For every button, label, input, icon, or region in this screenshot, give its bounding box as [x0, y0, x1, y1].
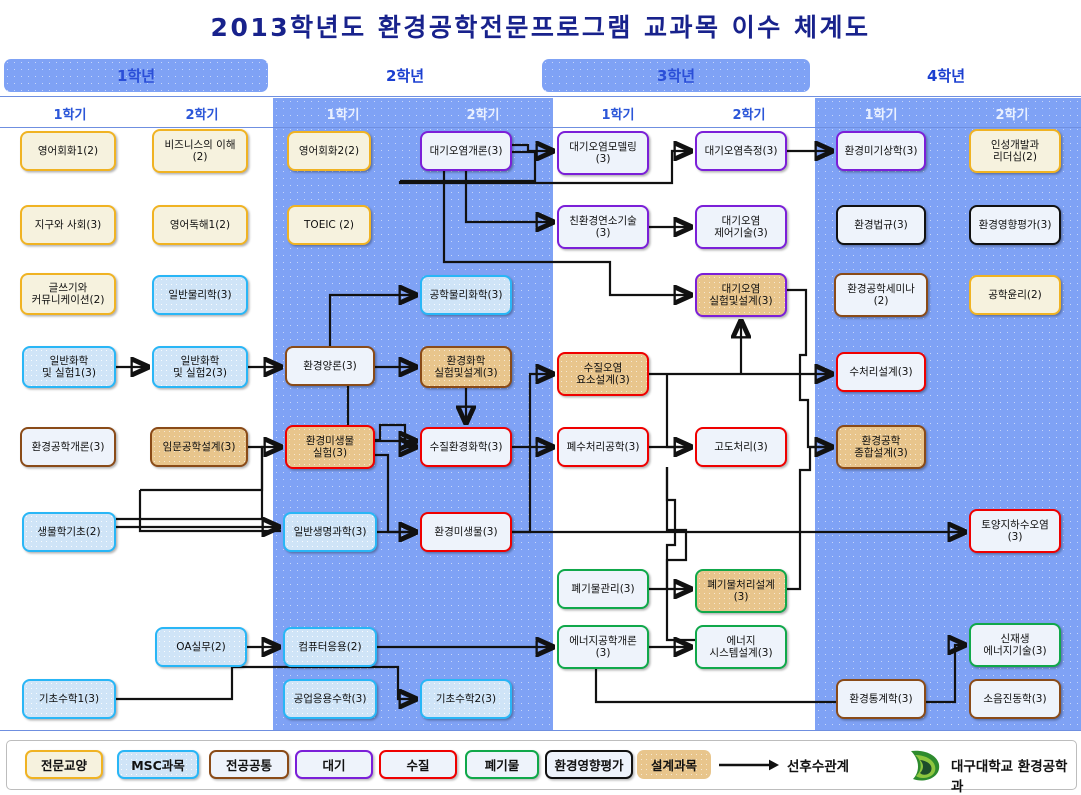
course-box[interactable]: 임문공학설계(3) — [150, 427, 248, 467]
course-box[interactable]: 비즈니스의 이해 (2) — [152, 129, 248, 173]
year-header-1-label: 1학년 — [117, 65, 155, 86]
course-box[interactable]: 기초수학1(3) — [22, 679, 116, 719]
year-header-1: 1학년 — [4, 59, 268, 92]
sem-header-y1s1: 1학기 — [4, 100, 136, 126]
course-box[interactable]: 환경공학세미나 (2) — [834, 273, 928, 317]
course-box[interactable]: 환경영향평가(3) — [969, 205, 1061, 245]
course-box[interactable]: 대기오염개론(3) — [420, 131, 512, 171]
course-box[interactable]: 토양지하수오염 (3) — [969, 509, 1061, 553]
course-box[interactable]: 폐수처리공학(3) — [557, 427, 649, 467]
legend-panel: 전문교양MSC과목전공공통대기수질폐기물환경영향평가설계과목 선후수관계 대구대… — [6, 740, 1077, 790]
year-header-4: 4학년 — [815, 59, 1077, 92]
course-box[interactable]: 환경통계학(3) — [836, 679, 926, 719]
course-box[interactable]: 공학물리화학(3) — [420, 275, 512, 315]
course-box[interactable]: 대기오염 제어기술(3) — [695, 205, 787, 249]
course-box[interactable]: 환경공학 종합설계(3) — [836, 425, 926, 469]
course-box[interactable]: 폐기물관리(3) — [557, 569, 649, 609]
course-box[interactable]: 고도처리(3) — [695, 427, 787, 467]
year-header-3: 3학년 — [542, 59, 810, 92]
legend-item: 환경영향평가 — [545, 750, 633, 779]
course-box[interactable]: 일반화학 및 실험1(3) — [22, 346, 116, 388]
university-logo-icon — [905, 747, 945, 783]
sem-header-y4s2-label: 2학기 — [996, 104, 1029, 123]
course-box[interactable]: 환경법규(3) — [836, 205, 926, 245]
year-header-2-label: 2학년 — [386, 65, 424, 86]
sem-header-y2s1: 1학기 — [273, 100, 413, 126]
header-divider-top — [0, 96, 1081, 97]
sem-header-y3s1-label: 1학기 — [602, 104, 635, 123]
course-box[interactable]: 에너지공학개론 (3) — [557, 625, 649, 669]
course-box[interactable]: 환경미생물 실험(3) — [285, 425, 375, 469]
legend-item: 대기 — [295, 750, 373, 779]
sem-header-y4s1-label: 1학기 — [865, 104, 898, 123]
course-box[interactable]: TOEIC (2) — [287, 205, 371, 245]
course-box[interactable]: 영어독해1(2) — [152, 205, 248, 245]
legend-relation-label: 선후수관계 — [787, 755, 849, 775]
sem-header-y2s2-label: 2학기 — [467, 104, 500, 123]
course-box[interactable]: 환경미생물(3) — [420, 512, 512, 552]
course-box[interactable]: 컴퓨터응용(2) — [283, 627, 377, 667]
course-box[interactable]: 공업응용수학(3) — [283, 679, 377, 719]
year-header-3-label: 3학년 — [657, 65, 695, 86]
sem-header-y4s2: 2학기 — [947, 100, 1077, 126]
course-box[interactable]: 환경미기상학(3) — [836, 131, 926, 171]
course-box[interactable]: 친환경연소기술 (3) — [557, 205, 649, 249]
course-box[interactable]: 일반화학 및 실험2(3) — [152, 346, 248, 388]
course-box[interactable]: 일반생명과학(3) — [283, 512, 377, 552]
legend-item: 폐기물 — [465, 750, 539, 779]
sem-header-y3s2: 2학기 — [683, 100, 815, 126]
course-box[interactable]: 환경공학개론(3) — [20, 427, 116, 467]
sem-header-y2s2: 2학기 — [413, 100, 553, 126]
sem-header-y3s2-label: 2학기 — [733, 104, 766, 123]
course-box[interactable]: 수처리설계(3) — [836, 352, 926, 392]
sem-header-y2s1-label: 1학기 — [327, 104, 360, 123]
course-box[interactable]: 폐기물처리설계 (3) — [695, 569, 787, 613]
course-box[interactable]: 대기오염 실험및설계(3) — [695, 273, 787, 317]
course-box[interactable]: 수질환경화학(3) — [420, 427, 512, 467]
sem-header-y1s1-label: 1학기 — [54, 104, 87, 123]
course-box[interactable]: 환경화학 실험및설계(3) — [420, 346, 512, 388]
course-box[interactable]: OA실무(2) — [155, 627, 247, 667]
department-name: 대구대학교 환경공학과 — [951, 755, 1076, 795]
sem-header-y4s1: 1학기 — [815, 100, 947, 126]
course-box[interactable]: 대기오염모델링 (3) — [557, 131, 649, 175]
course-box[interactable]: 영어회화2(2) — [287, 131, 371, 171]
legend-arrow-icon — [719, 757, 781, 773]
course-box[interactable]: 기초수학2(3) — [420, 679, 512, 719]
legend-item: 수질 — [379, 750, 457, 779]
course-box[interactable]: 소음진동학(3) — [969, 679, 1061, 719]
course-box[interactable]: 신재생 에너지기술(3) — [969, 623, 1061, 667]
sem-header-y3s1: 1학기 — [553, 100, 683, 126]
sem-header-y1s2-label: 2학기 — [186, 104, 219, 123]
year-header-2: 2학년 — [273, 59, 537, 92]
diagram-canvas: 2013학년도 환경공학전문프로그램 교과목 이수 체계도 1학년 2학년 3학… — [0, 0, 1081, 794]
page-title: 2013학년도 환경공학전문프로그램 교과목 이수 체계도 — [0, 8, 1081, 44]
course-box[interactable]: 영어회화1(2) — [20, 131, 116, 171]
header-divider-bottom — [0, 127, 1081, 128]
legend-item: MSC과목 — [117, 750, 199, 779]
course-box[interactable]: 공학윤리(2) — [969, 275, 1061, 315]
course-box[interactable]: 수질오염 요소설계(3) — [557, 352, 649, 396]
course-box[interactable]: 글쓰기와 커뮤니케이션(2) — [20, 273, 116, 315]
year-header-4-label: 4학년 — [927, 65, 965, 86]
legend-item: 설계과목 — [637, 750, 711, 779]
course-box[interactable]: 지구와 사회(3) — [20, 205, 116, 245]
course-box[interactable]: 환경양론(3) — [285, 346, 375, 386]
course-box[interactable]: 인성개발과 리더십(2) — [969, 129, 1061, 173]
sem-header-y1s2: 2학기 — [136, 100, 268, 126]
legend-item: 전문교양 — [25, 750, 103, 779]
course-box[interactable]: 에너지 시스템설계(3) — [695, 625, 787, 669]
course-box[interactable]: 생물학기초(2) — [22, 512, 116, 552]
chart-bottom-rule — [0, 730, 1081, 731]
legend-item: 전공공통 — [209, 750, 289, 779]
course-box[interactable]: 대기오염측정(3) — [695, 131, 787, 171]
course-box[interactable]: 일반물리학(3) — [152, 275, 248, 315]
